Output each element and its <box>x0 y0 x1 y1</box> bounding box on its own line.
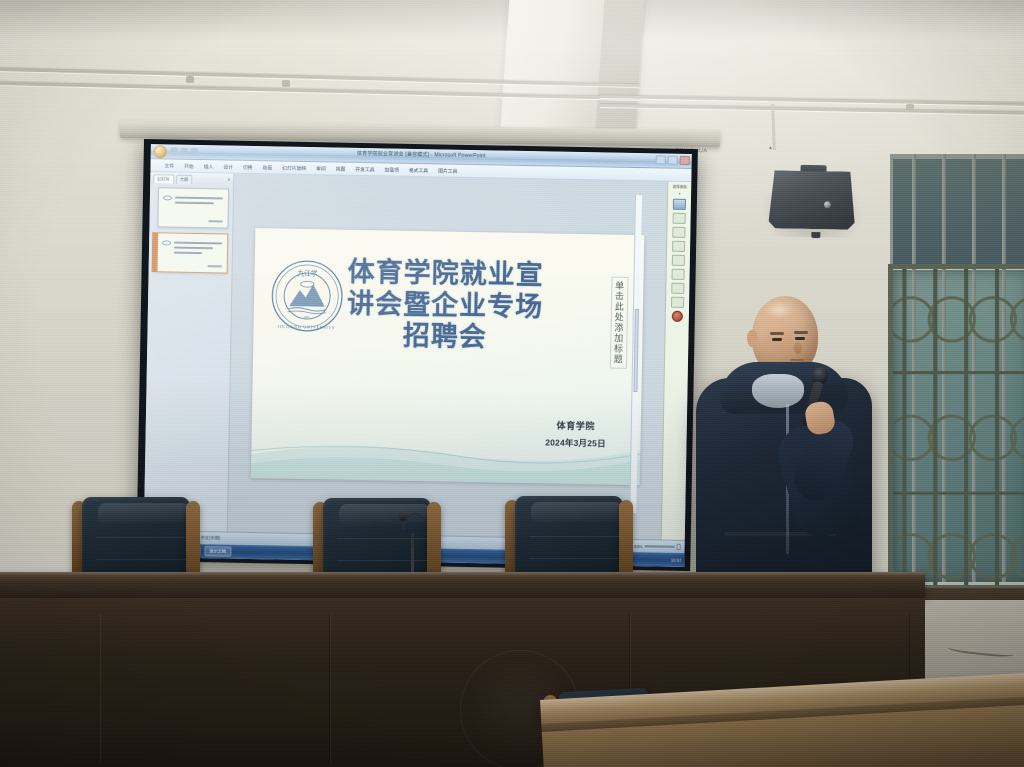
slide-title-line-3: 招聘会 <box>346 320 580 356</box>
status-theme: 中文(中国) <box>201 535 221 541</box>
slide-thumbnail-panel[interactable]: 幻灯片 大纲 × <box>144 172 235 531</box>
zoom-control[interactable]: 66% <box>634 543 680 550</box>
tab-outline[interactable]: 大纲 <box>176 175 193 184</box>
jiujiang-university-logo-icon: 九江学 JIUJIANG UNIVERSITY 1901 <box>269 258 344 333</box>
slide-editing-stage[interactable]: 九江学 JIUJIANG UNIVERSITY 1901 体育学院就业宣 讲会暨… <box>228 174 667 540</box>
ribbon-tab[interactable]: 格式工具 <box>409 166 428 173</box>
grille-frame <box>888 264 1024 590</box>
ribbon-tab[interactable]: 文件 <box>164 162 174 169</box>
color-icon[interactable] <box>672 311 683 322</box>
align-icon[interactable] <box>672 227 685 238</box>
slide-vertical-placeholder[interactable]: 单击此处添加标题 <box>610 277 629 369</box>
ribbon-tab[interactable]: 切换 <box>243 163 253 170</box>
person-head-highlight <box>764 301 794 319</box>
chair-seam <box>529 536 629 537</box>
tab-slides[interactable]: 幻灯片 <box>153 174 174 183</box>
chair-seam <box>96 559 196 560</box>
taskbar-item[interactable]: 演示文稿 <box>204 546 231 556</box>
current-slide[interactable]: 九江学 JIUJIANG UNIVERSITY 1901 体育学院就业宣 讲会暨… <box>250 228 644 486</box>
podium-top-highlight <box>0 572 925 576</box>
picture-icon[interactable] <box>673 199 686 210</box>
ribbon-tab[interactable]: 设计 <box>223 163 233 170</box>
zoom-level: 66% <box>634 544 642 549</box>
thumb-title-line <box>174 247 213 250</box>
ribbon-tab[interactable]: 开始 <box>184 162 194 169</box>
window-with-grille <box>888 146 1024 616</box>
wall-speaker <box>765 164 858 236</box>
person-ear <box>747 330 757 347</box>
pipe-clip <box>906 104 914 111</box>
thumb-title-line <box>175 202 214 205</box>
ppt-body: 幻灯片 大纲 × <box>144 172 691 540</box>
crop-icon[interactable] <box>673 213 686 224</box>
thumb-footer-line <box>208 221 222 223</box>
scrollbar-thumb[interactable] <box>633 309 639 392</box>
slide-wave-decoration <box>250 423 641 485</box>
ribbon-tab[interactable]: 图片工具 <box>438 167 457 174</box>
slide-title-line-1: 体育学院就业宣 <box>347 257 581 293</box>
person-eyebrow <box>770 332 784 335</box>
pipe-clip <box>186 76 194 83</box>
zoom-slider-track[interactable] <box>645 545 675 548</box>
person-eyebrow <box>794 331 808 334</box>
chair-seam <box>529 558 629 559</box>
taskbar-clock[interactable]: 10:57 <box>671 557 682 562</box>
zoom-slider-knob[interactable] <box>677 544 681 550</box>
chair-seam <box>96 537 196 538</box>
window-controls[interactable] <box>656 155 690 165</box>
group-icon[interactable] <box>672 241 685 252</box>
ribbon-tab[interactable]: 审阅 <box>316 165 326 172</box>
thumb-logo-icon <box>163 195 172 200</box>
ribbon-tab[interactable]: 加载项 <box>384 166 399 173</box>
slide-thumbnail-2[interactable] <box>157 232 229 273</box>
ribbon-tab[interactable]: 开发工具 <box>355 165 374 172</box>
slide-title[interactable]: 体育学院就业宣 讲会暨企业专场 招聘会 <box>346 257 581 355</box>
ribbon-tab[interactable]: 插入 <box>204 163 214 170</box>
podium-top-surface <box>0 572 925 598</box>
maximize-icon[interactable] <box>668 156 678 165</box>
mic-capsule <box>399 510 407 521</box>
order-icon[interactable] <box>672 269 685 280</box>
pipe-clip <box>282 80 290 87</box>
chair-highlight <box>98 503 190 525</box>
person-mouth <box>790 359 804 361</box>
close-icon[interactable] <box>680 156 690 165</box>
speaker-driver-icon <box>824 201 831 208</box>
right-toolbar-label: 选择面板 <box>672 185 686 190</box>
thumb-title-line <box>175 197 223 200</box>
chevron-down-icon[interactable]: ▾ <box>679 192 681 196</box>
table-icon[interactable] <box>671 283 684 294</box>
thumb-logo-icon <box>162 240 171 245</box>
thumb-title-line <box>174 252 202 255</box>
wall-corner-mark: ▲ <box>768 145 773 151</box>
rotate-icon[interactable] <box>672 255 685 266</box>
thumb-title-line <box>174 242 222 245</box>
speaker-foot <box>811 232 820 238</box>
person-nose <box>794 342 802 354</box>
speaker-body <box>769 170 856 229</box>
thumbnail-tabstrip[interactable]: 幻灯片 大纲 × <box>150 172 233 185</box>
ribbon-tab[interactable]: 动画 <box>262 164 272 171</box>
ribbon-tab[interactable]: 幻灯片放映 <box>282 164 306 171</box>
thumbnail-list[interactable] <box>144 183 233 531</box>
person-eye <box>772 338 782 341</box>
svg-text:JIUJIANG UNIVERSITY: JIUJIANG UNIVERSITY <box>278 324 336 330</box>
podium-panel-section <box>100 614 330 764</box>
person-eye <box>795 337 805 340</box>
ribbon-tab[interactable]: 视图 <box>336 165 346 172</box>
lecture-hall-scene: ▲TSINGHUA ▲ 体育学院就业宣讲会 [兼容模式] - Microsoft… <box>0 0 1024 767</box>
svg-text:九江学: 九江学 <box>298 268 318 277</box>
thumb-footer-line <box>208 266 222 268</box>
slide-thumbnail-1[interactable] <box>157 187 229 228</box>
svg-text:1901: 1901 <box>304 315 311 319</box>
shape-icon[interactable] <box>671 297 684 308</box>
chair-highlight <box>531 502 623 524</box>
minimize-icon[interactable] <box>656 155 666 164</box>
close-panel-icon[interactable]: × <box>227 178 230 184</box>
slide-title-line-2: 讲会暨企业专场 <box>347 288 581 324</box>
inner-collar <box>752 374 804 408</box>
